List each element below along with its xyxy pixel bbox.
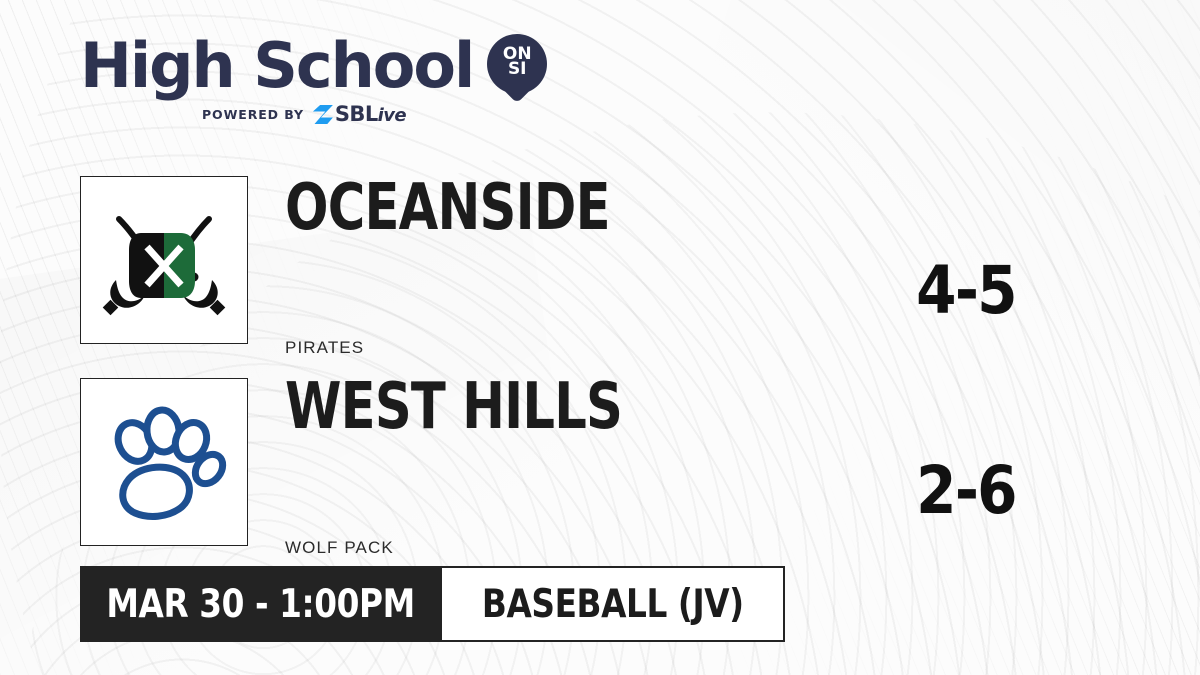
- powered-by-row: POWERED BY SBLive: [202, 104, 547, 125]
- sblive-wordmark: SBLive: [335, 104, 406, 125]
- team-record-west-hills: 2-6: [878, 458, 1054, 524]
- on-si-pin-icon: ON SI: [487, 34, 547, 94]
- game-datetime-text: MAR 30 - 1:00PM: [107, 585, 415, 624]
- brand-header: High School ON SI POWERED BY SBLive: [80, 34, 547, 125]
- game-datetime-panel: MAR 30 - 1:00PM: [80, 566, 442, 642]
- pin-text: ON SI: [487, 34, 547, 90]
- powered-by-label: POWERED BY: [202, 107, 304, 122]
- sblive-italic-text: ive: [378, 105, 406, 126]
- team-logo-box-oceanside: [80, 176, 248, 344]
- game-sport-panel: BASEBALL (JV): [442, 566, 785, 642]
- pirate-crossed-swords-monogram-icon: [89, 185, 239, 335]
- sblive-logo: SBLive: [313, 104, 406, 125]
- sblive-main-text: SBL: [335, 102, 378, 126]
- matchup-graphic: High School ON SI POWERED BY SBLive: [0, 0, 1200, 675]
- wolf-paw-print-icon: [89, 387, 239, 537]
- team-name-oceanside: OCEANSIDE: [285, 176, 610, 240]
- game-info-bar: MAR 30 - 1:00PM BASEBALL (JV): [80, 566, 785, 642]
- game-sport-text: BASEBALL (JV): [482, 585, 744, 624]
- team-mascot-pirates: PIRATES: [285, 338, 364, 358]
- team-name-west-hills: WEST HILLS: [285, 375, 622, 439]
- brand-row: High School ON SI: [80, 34, 547, 98]
- team-mascot-wolf-pack: WOLF PACK: [285, 538, 394, 558]
- brand-title: High School: [80, 37, 473, 96]
- team-logo-box-west-hills: [80, 378, 248, 546]
- pin-line-si: SI: [508, 62, 527, 77]
- sblive-bolt-icon: [313, 105, 333, 124]
- team-record-oceanside: 4-5: [878, 258, 1054, 324]
